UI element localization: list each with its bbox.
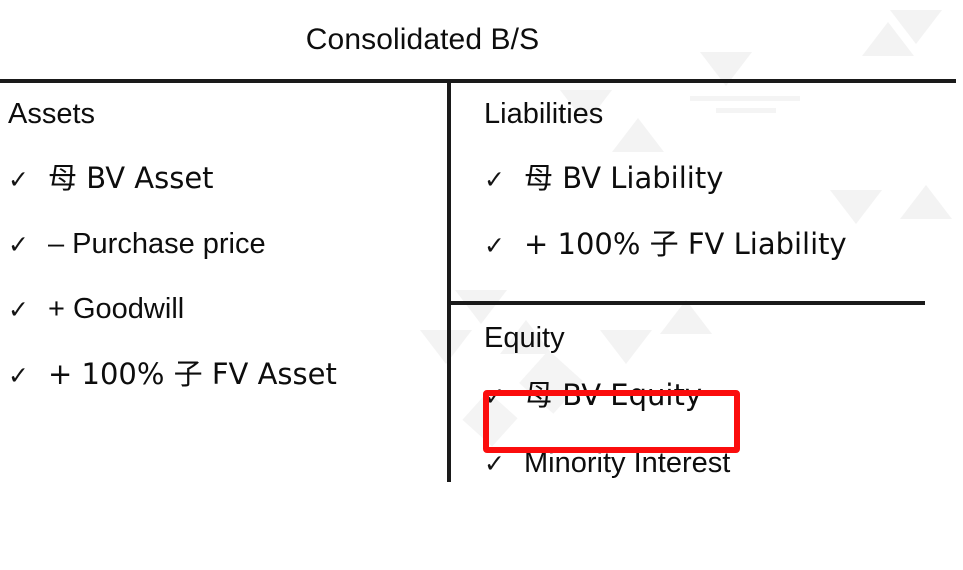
liabilities-list: ✓ 母 BV Liability ✓ + 100% 子 FV Liability (484, 157, 954, 267)
list-item-label: + 100% 子 FV Asset (48, 353, 337, 395)
assets-list: ✓ 母 BV Asset ✓ – Purchase price ✓ + Good… (8, 157, 438, 397)
list-item-label: 母 BV Liability (524, 157, 723, 199)
assets-column: Assets ✓ 母 BV Asset ✓ – Purchase price ✓… (8, 94, 438, 419)
liabilities-equity-rule (448, 301, 925, 305)
list-item: ✓ + Goodwill (8, 288, 438, 331)
list-item-label: – Purchase price (48, 223, 266, 265)
liabilities-heading: Liabilities (484, 94, 954, 134)
table-top-rule (0, 79, 956, 83)
column-divider-rule (447, 83, 451, 482)
check-icon: ✓ (484, 225, 524, 267)
consolidated-balance-sheet-slide: Consolidated B/S Assets ✓ 母 BV Asset ✓ –… (0, 0, 963, 570)
list-item: ✓ – Purchase price (8, 223, 438, 266)
list-item-label: + Goodwill (48, 288, 184, 330)
watermark-chevron (890, 10, 942, 44)
list-item-label: 母 BV Asset (48, 157, 214, 199)
page-title: Consolidated B/S (0, 20, 845, 60)
check-icon: ✓ (8, 355, 48, 397)
list-item: ✓ + 100% 子 FV Liability (484, 223, 954, 267)
watermark-chevron (862, 22, 914, 56)
assets-heading: Assets (8, 94, 438, 134)
check-icon: ✓ (8, 159, 48, 201)
list-item-label: + 100% 子 FV Liability (524, 223, 847, 265)
check-icon: ✓ (8, 289, 48, 331)
check-icon: ✓ (484, 159, 524, 201)
equity-heading: Equity (484, 318, 954, 358)
equity-highlight-box (483, 390, 740, 453)
liabilities-column: Liabilities ✓ 母 BV Liability ✓ + 100% 子 … (484, 94, 954, 289)
list-item: ✓ + 100% 子 FV Asset (8, 353, 438, 397)
list-item: ✓ 母 BV Asset (8, 157, 438, 201)
check-icon: ✓ (8, 224, 48, 266)
list-item: ✓ 母 BV Liability (484, 157, 954, 201)
